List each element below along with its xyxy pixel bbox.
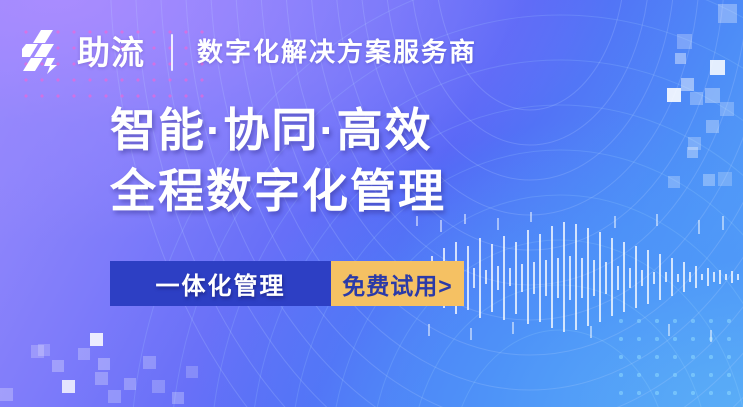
banner-header: 助流 数字化解决方案服务商 bbox=[22, 28, 477, 76]
brand-name: 助流 bbox=[77, 36, 145, 69]
cta-row: 一体化管理 免费试用> bbox=[110, 261, 464, 306]
cyan-dot-grid-decoration bbox=[612, 312, 738, 398]
headline-line-1: 智能·协同·高效 bbox=[110, 100, 446, 161]
integrated-management-button[interactable]: 一体化管理 bbox=[110, 261, 331, 306]
header-tagline: 数字化解决方案服务商 bbox=[197, 39, 477, 65]
flow-lightning-logo-icon bbox=[22, 29, 68, 75]
headline-block: 智能·协同·高效 全程数字化管理 bbox=[110, 100, 446, 221]
header-divider bbox=[171, 34, 173, 71]
promo-banner: 助流 数字化解决方案服务商 智能·协同·高效 全程数字化管理 一体化管理 免费试… bbox=[0, 0, 743, 407]
free-trial-button[interactable]: 免费试用> bbox=[331, 261, 464, 306]
headline-line-2: 全程数字化管理 bbox=[110, 161, 446, 222]
